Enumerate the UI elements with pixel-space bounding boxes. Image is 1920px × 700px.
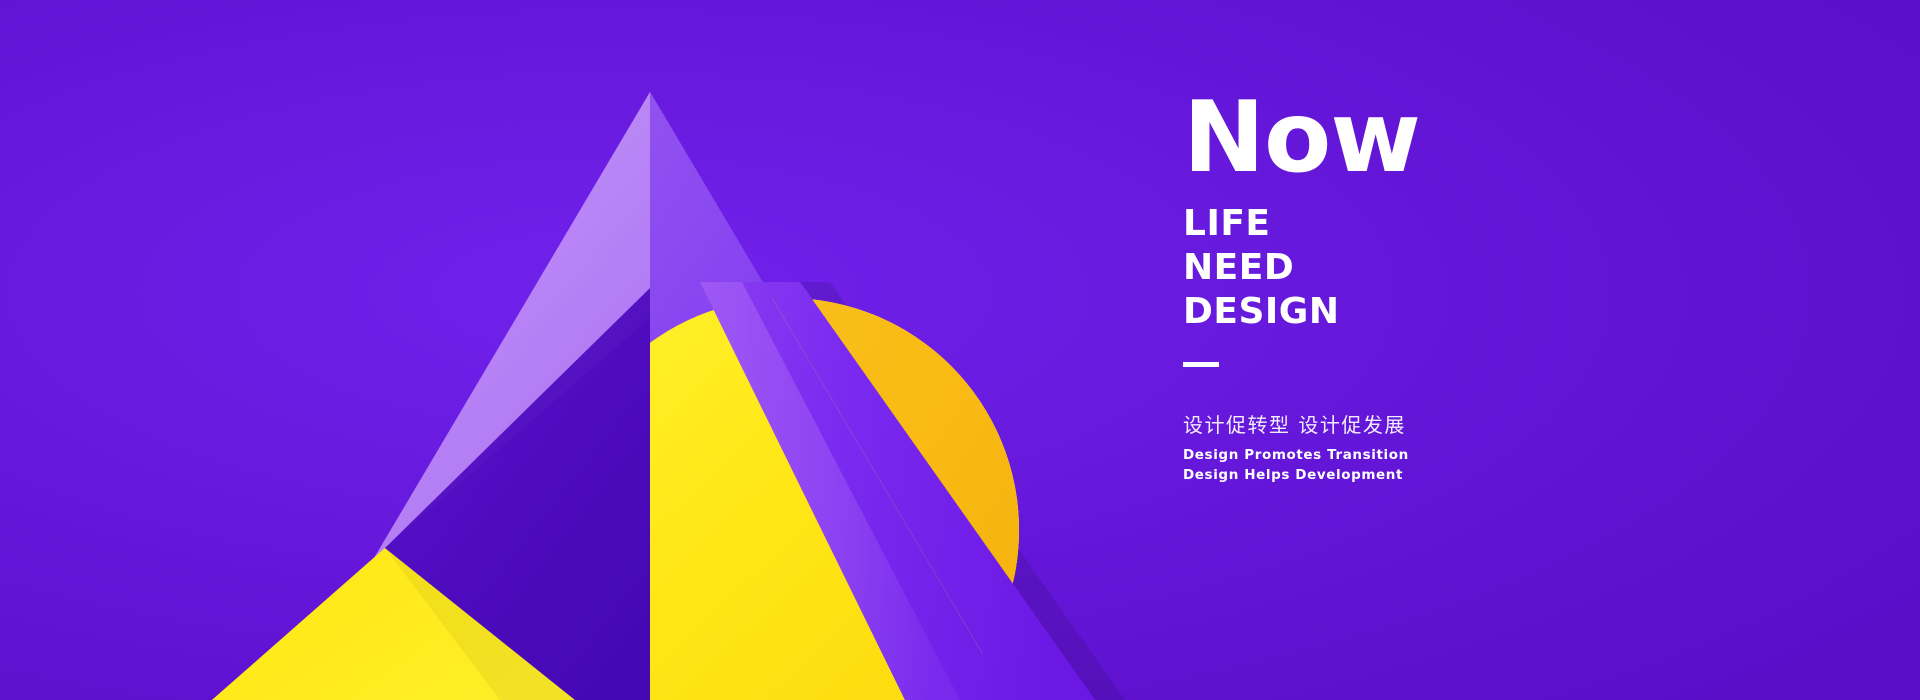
tagline-block: 设计促转型 设计促发展 Design Promotes Transition D… [1183, 409, 1703, 485]
horizontal-rule-divider [1183, 362, 1219, 367]
headline-text-block: Now LIFE NEED DESIGN 设计促转型 设计促发展 Design … [1183, 96, 1703, 485]
headline-line-need: NEED [1183, 246, 1703, 290]
word-now: Now [1183, 96, 1703, 180]
english-tagline-line-2: Design Helps Development [1183, 466, 1703, 486]
headline-line-design: DESIGN [1183, 290, 1703, 334]
chinese-tagline: 设计促转型 设计促发展 [1183, 409, 1703, 438]
english-tagline-line-1: Design Promotes Transition [1183, 446, 1703, 466]
headline-stack: LIFE NEED DESIGN [1183, 202, 1703, 334]
headline-line-life: LIFE [1183, 202, 1703, 246]
design-banner: Now LIFE NEED DESIGN 设计促转型 设计促发展 Design … [0, 0, 1920, 700]
english-tagline-lines: Design Promotes Transition Design Helps … [1183, 446, 1703, 485]
